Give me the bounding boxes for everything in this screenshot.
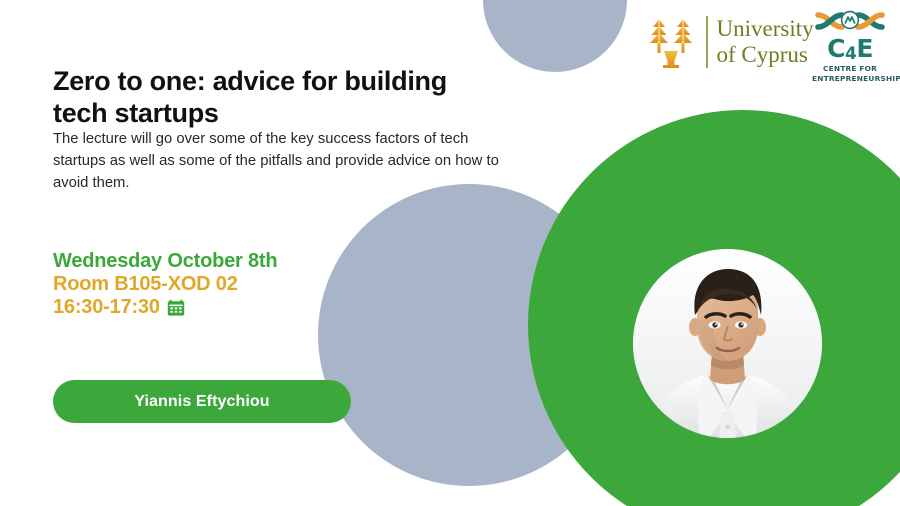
two-trees-icon <box>645 13 697 71</box>
event-time: 16:30-17:30 <box>53 296 160 319</box>
dna-helix-icon <box>812 8 888 34</box>
description-paragraph: The lecture will go over some of the key… <box>53 129 505 195</box>
speaker-name: Yiannis Eftychiou <box>134 393 269 411</box>
c4e-letter-c: C <box>827 34 845 63</box>
calendar-icon <box>167 299 185 317</box>
university-of-cyprus-logo: University of Cyprus <box>645 11 814 73</box>
event-details: Wednesday October 8th Room B105-XOD 02 1… <box>53 250 277 320</box>
c4e-acronym: C4E <box>812 36 888 63</box>
c4e-tagline-line2: ENTREPRENEURSHIP <box>812 74 888 83</box>
speaker-photo <box>633 249 822 438</box>
speaker-photo-illustration <box>633 249 822 438</box>
description-text: The lecture will go over some of the key… <box>53 129 505 195</box>
speaker-name-pill: Yiannis Eftychiou <box>53 380 351 423</box>
c4e-logo: C4E CENTRE FOR ENTREPRENEURSHIP <box>812 8 888 83</box>
event-time-row: 16:30-17:30 <box>53 296 277 319</box>
page-title: Zero to one: advice for building tech st… <box>53 66 473 130</box>
university-wordmark-line1: University <box>717 16 814 42</box>
event-poster: Zero to one: advice for building tech st… <box>0 0 900 506</box>
logo-divider <box>706 16 708 68</box>
event-date: Wednesday October 8th <box>53 250 277 273</box>
decorative-circle-blue-top <box>483 0 627 72</box>
event-room: Room B105-XOD 02 <box>53 273 277 296</box>
university-wordmark-line2: of Cyprus <box>717 42 814 68</box>
university-wordmark: University of Cyprus <box>717 16 814 68</box>
c4e-digit-4: 4 <box>845 44 856 64</box>
c4e-letter-e: E <box>856 34 873 63</box>
c4e-tagline-line1: CENTRE FOR <box>812 64 888 73</box>
